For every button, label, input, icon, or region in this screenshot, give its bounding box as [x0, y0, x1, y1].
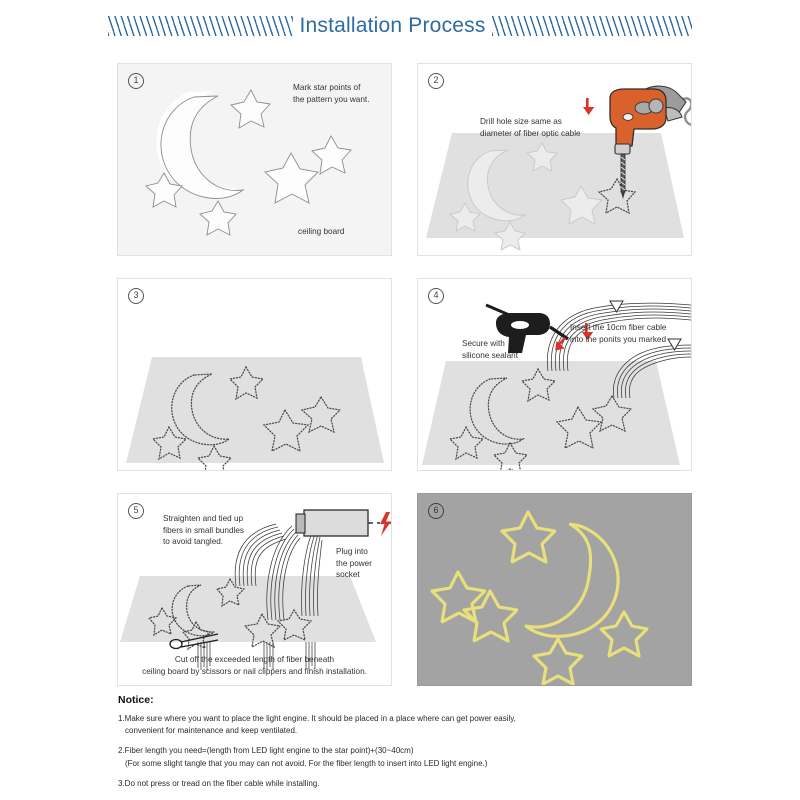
- down-arrow-red: [583, 98, 594, 115]
- moon-and-stars-outline: [146, 90, 351, 235]
- step-panel-4: 4: [417, 278, 692, 471]
- step-number-4: 4: [428, 288, 444, 304]
- step-panel-5: 5: [117, 493, 392, 686]
- notice-item-1-sub: convenient for maintenance and keep vent…: [118, 725, 718, 737]
- panel-4-illustration: [418, 279, 691, 470]
- step-number-3: 3: [128, 288, 144, 304]
- ceiling-board-shape: [126, 357, 384, 463]
- glowing-moon-and-stars: [432, 512, 647, 684]
- notice-item-2-sub: (For some slight tangle that you may can…: [118, 758, 718, 770]
- panel-1-caption: Mark star points of the pattern you want…: [293, 82, 392, 105]
- step-number-5: 5: [128, 503, 144, 519]
- step-panel-3: 3: [117, 278, 392, 471]
- lightning-bolt-icon: [380, 512, 391, 536]
- notice-item-1: 1.Make sure where you want to place the …: [118, 713, 718, 737]
- step-number-6: 6: [428, 503, 444, 519]
- panel-1-footer-label: ceiling board: [298, 226, 344, 238]
- notice-item-2-main: 2.Fiber length you need=(length from LED…: [118, 746, 414, 755]
- panel-3-illustration: [118, 279, 391, 470]
- panel-5-footer-caption: Cut off the exceeded length of fiber ben…: [128, 654, 381, 677]
- installation-process-page: Installation Process 1: [0, 0, 800, 800]
- hatch-rule-right: [492, 16, 692, 36]
- notice-item-3: 3.Do not press or tread on the fiber cab…: [118, 778, 718, 790]
- step-number-2: 2: [428, 73, 444, 89]
- step-panel-6: 6: [417, 493, 692, 686]
- page-header: Installation Process: [0, 14, 800, 38]
- ceiling-board-shape: [422, 361, 680, 465]
- step-panel-2: 2: [417, 63, 692, 256]
- step-number-1: 1: [128, 73, 144, 89]
- panel-5-power-caption: Plug into the power socket: [336, 546, 392, 581]
- panel-2-illustration: [418, 64, 691, 255]
- page-title: Installation Process: [299, 14, 485, 38]
- panel-6-illustration: [418, 494, 691, 685]
- led-light-engine-icon: [296, 510, 391, 536]
- hatch-rule-left: [108, 16, 293, 36]
- panel-4-caption-left: Secure with silicone sealant: [462, 338, 542, 361]
- notice-heading: Notice:: [118, 694, 718, 706]
- panel-4-caption-right: Insert the 10cm fiber cable into the pon…: [570, 322, 688, 345]
- notice-item-3-main: 3.Do not press or tread on the fiber cab…: [118, 779, 319, 788]
- steps-grid: 1: [117, 63, 692, 686]
- notice-section: Notice: 1.Make sure where you want to pl…: [118, 694, 718, 798]
- panel-2-caption: Drill hole size same as diameter of fibe…: [480, 116, 605, 139]
- notice-item-2: 2.Fiber length you need=(length from LED…: [118, 745, 718, 769]
- notice-item-1-main: 1.Make sure where you want to place the …: [118, 714, 516, 723]
- panel-5-caption: Straighten and tied up fibers in small b…: [163, 513, 273, 548]
- step-panel-1: 1: [117, 63, 392, 256]
